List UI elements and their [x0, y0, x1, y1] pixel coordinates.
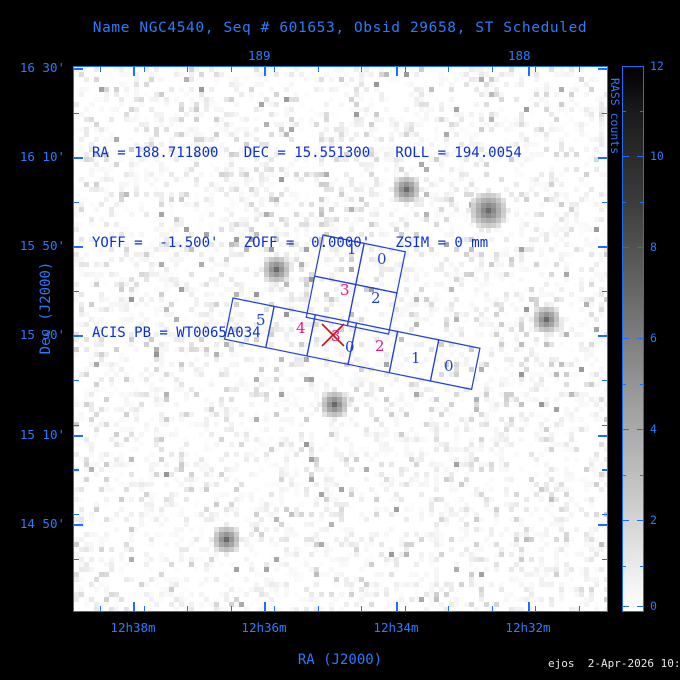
y-minor-tick-r-1: [602, 113, 608, 114]
x-axis-title: RA (J2000): [270, 652, 410, 668]
x-minor-tick-6: [361, 606, 362, 612]
top-axis-label-0: 189: [248, 48, 271, 63]
y-minor-tick-8: [73, 425, 79, 426]
colorbar-minor-tick-r-1: [640, 202, 644, 203]
x-minor-tick-5: [318, 606, 319, 612]
colorbar-tick-r-3: [637, 338, 644, 339]
colorbar-minor-tick-2: [622, 293, 626, 294]
colorbar-minor-tick-0: [622, 111, 626, 112]
y-tick-label-4: 15 10': [5, 427, 65, 442]
y-minor-tick-r-9: [602, 469, 608, 470]
y-minor-tick-4: [73, 246, 79, 247]
colorbar-tick-3: [622, 338, 629, 339]
acis-s-chip-label-6: 0: [444, 357, 454, 375]
colorbar-minor-tick-5: [622, 566, 626, 567]
x-minor-tick-t-9: [492, 66, 493, 72]
acis-i-chip-label-0: 1: [347, 240, 357, 258]
y-major-tick-4: [73, 435, 83, 437]
y-minor-tick-r-10: [602, 514, 608, 515]
acis-s-chip-label-0: 5: [256, 311, 266, 329]
colorbar-tick-label-6: 0: [650, 599, 670, 613]
y-minor-tick-11: [73, 559, 79, 560]
colorbar-tick-2: [622, 247, 629, 248]
acis-s-chip-label-2: 3: [331, 327, 341, 345]
y-major-tick-r-4: [598, 435, 608, 437]
y-tick-label-5: 14 50': [5, 516, 65, 531]
y-minor-tick-r-3: [602, 202, 608, 203]
y-major-tick-r-5: [598, 524, 608, 526]
observation-parameters: RA = 188.711800 DEC = 15.551300 ROLL = 1…: [92, 78, 522, 408]
x-major-tick-t-1: [264, 66, 266, 76]
x-minor-tick-1: [144, 606, 145, 612]
x-minor-tick-2: [187, 606, 188, 612]
acis-s-chip-label-4: 2: [375, 337, 385, 355]
colorbar-tick-r-2: [637, 247, 644, 248]
x-minor-tick-t-11: [579, 66, 580, 72]
colorbar-minor-tick-r-2: [640, 293, 644, 294]
y-minor-tick-r-6: [602, 336, 608, 337]
footer-timestamp: ejos 2-Apr-2026 10:39: [548, 657, 680, 670]
colorbar-minor-tick-r-0: [640, 111, 644, 112]
y-minor-tick-10: [73, 514, 79, 515]
colorbar-minor-tick-r-5: [640, 566, 644, 567]
colorbar-minor-tick-r-3: [640, 384, 644, 385]
param-line-offsets: YOFF = -1.500' ZOFF = 0.0000' ZSIM = 0 m…: [92, 228, 522, 258]
y-minor-tick-r-5: [602, 291, 608, 292]
x-minor-tick-10: [535, 606, 536, 612]
x-major-tick-0: [133, 602, 135, 612]
x-minor-tick-t-6: [361, 66, 362, 72]
colorbar-minor-tick-3: [622, 384, 626, 385]
x-minor-tick-0: [100, 606, 101, 612]
x-minor-tick-9: [492, 606, 493, 612]
x-tick-label-1: 12h36m: [219, 620, 309, 635]
colorbar-minor-tick-r-4: [640, 475, 644, 476]
colorbar-tick-label-0: 12: [650, 59, 670, 73]
x-tick-label-2: 12h34m: [351, 620, 441, 635]
colorbar-tick-r-0: [637, 66, 644, 67]
colorbar-tick-r-6: [637, 606, 644, 607]
acis-i-chip-label-1: 0: [377, 250, 387, 268]
colorbar-tick-4: [622, 429, 629, 430]
acis-s-chip-label-1: 4: [296, 319, 306, 337]
y-minor-tick-6: [73, 336, 79, 337]
colorbar-tick-r-5: [637, 520, 644, 521]
page-title: Name NGC4540, Seq # 601653, Obsid 29658,…: [0, 20, 680, 36]
x-minor-tick-t-8: [448, 66, 449, 72]
x-major-tick-1: [264, 602, 266, 612]
x-major-tick-t-3: [528, 66, 530, 76]
acis-s-chip-label-5: 1: [411, 349, 421, 367]
x-major-tick-t-0: [133, 66, 135, 76]
y-minor-tick-5: [73, 291, 79, 292]
colorbar-minor-tick-4: [622, 475, 626, 476]
y-minor-tick-r-8: [602, 425, 608, 426]
y-tick-label-2: 15 50': [5, 238, 65, 253]
colorbar-tick-label-3: 6: [650, 331, 670, 345]
colorbar-tick-1: [622, 156, 629, 157]
colorbar-title: RASS counts: [608, 78, 622, 188]
y-major-tick-5: [73, 524, 83, 526]
y-major-tick-r-0: [598, 68, 608, 70]
x-minor-tick-3: [231, 606, 232, 612]
x-minor-tick-t-4: [274, 66, 275, 72]
colorbar-tick-label-1: 10: [650, 149, 670, 163]
colorbar-tick-0: [622, 66, 629, 67]
y-minor-tick-3: [73, 202, 79, 203]
colorbar-tick-6: [622, 606, 629, 607]
colorbar-minor-tick-1: [622, 202, 626, 203]
param-line-ra-dec-roll: RA = 188.711800 DEC = 15.551300 ROLL = 1…: [92, 138, 522, 168]
colorbar-tick-r-4: [637, 429, 644, 430]
x-minor-tick-7: [405, 606, 406, 612]
sky-map-viewer: Name NGC4540, Seq # 601653, Obsid 29658,…: [0, 0, 680, 680]
y-minor-tick-r-4: [602, 246, 608, 247]
x-minor-tick-t-7: [405, 66, 406, 72]
y-minor-tick-7: [73, 380, 79, 381]
x-major-tick-3: [528, 602, 530, 612]
x-tick-label-0: 12h38m: [88, 620, 178, 635]
x-minor-tick-t-0: [100, 66, 101, 72]
x-tick-label-3: 12h32m: [483, 620, 573, 635]
acis-i-chip-label-2: 3: [340, 281, 350, 299]
colorbar-tick-5: [622, 520, 629, 521]
y-minor-tick-9: [73, 469, 79, 470]
y-major-tick-0: [73, 68, 83, 70]
acis-i-chip-label-3: 2: [371, 289, 381, 307]
y-tick-label-0: 16 30': [5, 60, 65, 75]
param-line-acis-pb: ACIS PB = WT0065A034: [92, 318, 522, 348]
y-minor-tick-r-2: [602, 157, 608, 158]
acis-s-chip-label-3: 0: [345, 338, 355, 356]
y-minor-tick-r-11: [602, 559, 608, 560]
x-minor-tick-t-3: [231, 66, 232, 72]
x-minor-tick-t-2: [187, 66, 188, 72]
y-minor-tick-1: [73, 113, 79, 114]
top-axis-label-1: 188: [508, 48, 531, 63]
colorbar-tick-label-4: 4: [650, 422, 670, 436]
x-minor-tick-t-1: [144, 66, 145, 72]
x-minor-tick-t-10: [535, 66, 536, 72]
x-minor-tick-t-5: [318, 66, 319, 72]
y-minor-tick-r-7: [602, 380, 608, 381]
x-major-tick-t-2: [396, 66, 398, 76]
y-tick-label-1: 16 10': [5, 149, 65, 164]
x-minor-tick-11: [579, 606, 580, 612]
colorbar-tick-r-1: [637, 156, 644, 157]
colorbar-tick-label-2: 8: [650, 240, 670, 254]
x-minor-tick-4: [274, 606, 275, 612]
y-axis-title: Dec (J2000): [38, 238, 54, 378]
x-minor-tick-8: [448, 606, 449, 612]
x-major-tick-2: [396, 602, 398, 612]
colorbar-tick-label-5: 2: [650, 513, 670, 527]
y-tick-label-3: 15 30': [5, 327, 65, 342]
y-minor-tick-2: [73, 157, 79, 158]
